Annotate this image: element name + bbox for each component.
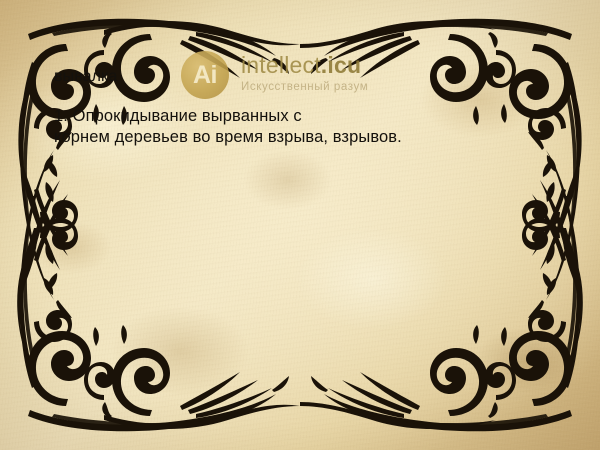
definition-text: 1. Опрокидывание вырванных с корнем дере…: [54, 106, 402, 148]
watermark-tagline: Искусственный разум: [241, 80, 368, 94]
edge-ornament-right: [546, 96, 582, 360]
corner-ornament-bottom-right: [311, 132, 580, 431]
edge-ornament-bottom: [102, 402, 497, 429]
watermark: Ai intellect.icu Искусственный разум: [181, 50, 411, 100]
corner-ornament-bottom-left: [20, 132, 289, 431]
ai-logo-text: Ai: [193, 63, 217, 88]
edge-ornament-left: [17, 96, 53, 360]
parchment-page: Ai intellect.icu Искусственный разум выв…: [0, 0, 600, 450]
watermark-brand: intellect.icu: [241, 53, 368, 77]
headword: вывалка: [54, 68, 118, 86]
watermark-text-block: intellect.icu Искусственный разум: [241, 50, 368, 94]
ai-logo-icon: Ai: [181, 51, 229, 99]
watermark-brand-primary: intellect: [241, 52, 321, 78]
watermark-brand-secondary: .icu: [321, 52, 361, 78]
edge-ornament-top: [102, 21, 497, 48]
